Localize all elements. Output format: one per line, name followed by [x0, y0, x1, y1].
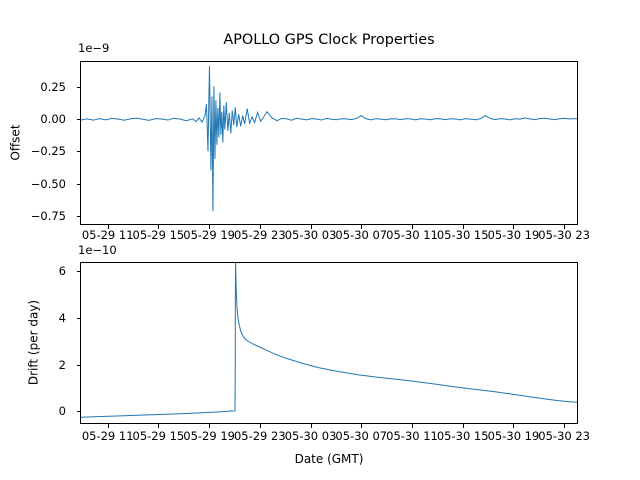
y-tick-label: −0.25 — [31, 145, 72, 157]
y-tick-mark — [77, 87, 81, 88]
x-tick-label: 05-29 15 — [133, 430, 185, 442]
y-tick-label: 0.00 — [40, 113, 72, 125]
matplotlib-figure: APOLLO GPS Clock Properties 1e−9 1e−10 O… — [0, 0, 640, 480]
x-tick-label: 05-30 23 — [538, 430, 590, 442]
x-tick-mark — [361, 424, 362, 428]
offset-x-tick-labels: 05-29 1105-29 1505-29 1905-29 2305-30 03… — [0, 229, 640, 243]
x-tick-label: 05-30 03 — [285, 229, 337, 241]
x-tick-mark — [209, 424, 210, 428]
offset-plot-area — [80, 61, 578, 225]
x-tick-label: 05-29 15 — [133, 229, 185, 241]
y-tick-mark — [77, 119, 81, 120]
x-tick-label: 05-29 19 — [183, 430, 235, 442]
offset-axis-exponent-label: 1e−9 — [78, 42, 109, 55]
x-tick-mark — [108, 424, 109, 428]
x-tick-label: 05-30 15 — [437, 229, 489, 241]
drift-axis-exponent-label: 1e−10 — [78, 244, 117, 257]
x-tick-mark — [412, 225, 413, 229]
offset-y-tick-labels: 0.250.00−0.25−0.50−0.75 — [0, 61, 72, 225]
y-tick-label: −0.75 — [31, 210, 72, 222]
x-tick-label: 05-30 23 — [538, 229, 590, 241]
x-tick-mark — [361, 225, 362, 229]
x-tick-mark — [463, 225, 464, 229]
x-tick-mark — [463, 424, 464, 428]
y-tick-label: 2 — [59, 359, 72, 371]
x-tick-label: 05-29 23 — [234, 430, 286, 442]
x-tick-mark — [158, 424, 159, 428]
x-tick-label: 05-30 11 — [386, 430, 438, 442]
x-tick-label: 05-30 11 — [386, 229, 438, 241]
y-tick-mark — [77, 365, 81, 366]
x-tick-mark — [209, 225, 210, 229]
x-axis-label: Date (GMT) — [80, 452, 578, 466]
x-tick-mark — [412, 424, 413, 428]
x-tick-mark — [311, 424, 312, 428]
x-tick-mark — [260, 424, 261, 428]
x-tick-mark — [564, 424, 565, 428]
x-tick-label: 05-30 19 — [488, 229, 540, 241]
y-tick-label: −0.50 — [31, 178, 72, 190]
y-tick-label: 0 — [59, 405, 72, 417]
drift-y-tick-labels: 0246 — [0, 262, 72, 424]
x-tick-label: 05-29 11 — [82, 430, 134, 442]
y-tick-label: 0.25 — [40, 81, 72, 93]
x-tick-label: 05-30 19 — [488, 430, 540, 442]
x-tick-label: 05-30 15 — [437, 430, 489, 442]
y-tick-mark — [77, 184, 81, 185]
x-tick-mark — [311, 225, 312, 229]
x-tick-mark — [108, 225, 109, 229]
drift-plot-area — [80, 262, 578, 424]
y-tick-label: 6 — [59, 265, 72, 277]
x-tick-mark — [564, 225, 565, 229]
figure-title: APOLLO GPS Clock Properties — [80, 31, 578, 49]
x-tick-label: 05-29 23 — [234, 229, 286, 241]
x-tick-mark — [513, 225, 514, 229]
x-tick-label: 05-29 19 — [183, 229, 235, 241]
y-tick-mark — [77, 216, 81, 217]
drift-x-tick-labels: 05-29 1105-29 1505-29 1905-29 2305-30 03… — [0, 430, 640, 444]
x-tick-mark — [260, 225, 261, 229]
offset-series-canvas — [81, 62, 577, 224]
y-tick-label: 4 — [59, 312, 72, 324]
y-tick-mark — [77, 151, 81, 152]
x-tick-label: 05-30 07 — [335, 430, 387, 442]
x-tick-mark — [513, 424, 514, 428]
y-tick-mark — [77, 411, 81, 412]
drift-series-canvas — [81, 263, 577, 423]
drift-data-line — [81, 263, 577, 417]
x-tick-label: 05-30 07 — [335, 229, 387, 241]
x-tick-label: 05-29 11 — [82, 229, 134, 241]
y-tick-mark — [77, 318, 81, 319]
x-tick-mark — [158, 225, 159, 229]
offset-data-line — [81, 66, 577, 211]
x-tick-label: 05-30 03 — [285, 430, 337, 442]
y-tick-mark — [77, 271, 81, 272]
